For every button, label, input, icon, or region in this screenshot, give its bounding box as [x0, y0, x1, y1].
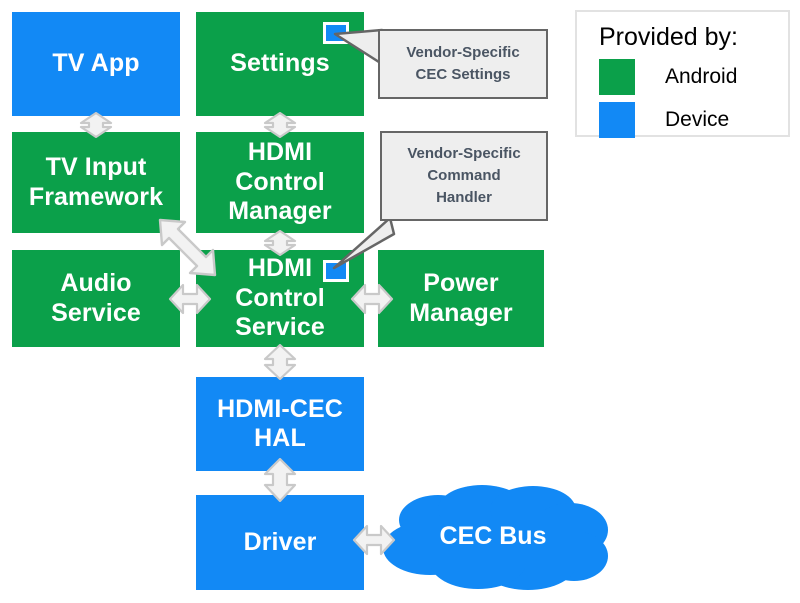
legend-swatch-device: [599, 102, 635, 138]
arrow-settings-hdmi-control-manager: [262, 112, 298, 138]
arrow-hdmi-cec-hal-driver: [262, 458, 298, 502]
legend-label-android: Android: [665, 65, 737, 89]
cec-bus-label: CEC Bus: [418, 522, 568, 551]
node-audio-service: Audio Service: [12, 250, 180, 347]
callout-vendor-command-handler: Vendor-Specific Command Handler: [380, 131, 548, 221]
arrow-hdmi-control-manager-hdmi-control-service: [262, 230, 298, 256]
arrow-tv-app-tv-input-framework: [78, 112, 114, 138]
diagram-canvas: TV App Settings TV Input Framework HDMI …: [0, 0, 800, 603]
node-tv-input-framework: TV Input Framework: [12, 132, 180, 233]
legend: Provided by: Android Device: [575, 10, 790, 137]
legend-item-android: Android: [599, 59, 788, 95]
node-hdmi-cec-hal: HDMI-CEC HAL: [196, 377, 364, 471]
arrow-driver-cec-bus: [352, 521, 396, 559]
arrow-hdmi-control-service-hdmi-cec-hal: [262, 344, 298, 380]
arrow-tv-input-framework-hdmi-control-service: [156, 216, 222, 282]
arrow-hdmi-control-service-power-manager: [350, 280, 394, 318]
callout-vendor-cec-settings: Vendor-Specific CEC Settings: [378, 29, 548, 99]
legend-title: Provided by:: [599, 24, 788, 52]
legend-swatch-android: [599, 59, 635, 95]
callout-tail-command-handler: [328, 212, 400, 274]
arrow-audio-service-hdmi-control-service: [168, 280, 212, 318]
node-tv-app: TV App: [12, 12, 180, 116]
legend-item-device: Device: [599, 102, 788, 138]
node-power-manager: Power Manager: [378, 250, 544, 347]
node-driver: Driver: [196, 495, 364, 590]
legend-label-device: Device: [665, 108, 729, 132]
